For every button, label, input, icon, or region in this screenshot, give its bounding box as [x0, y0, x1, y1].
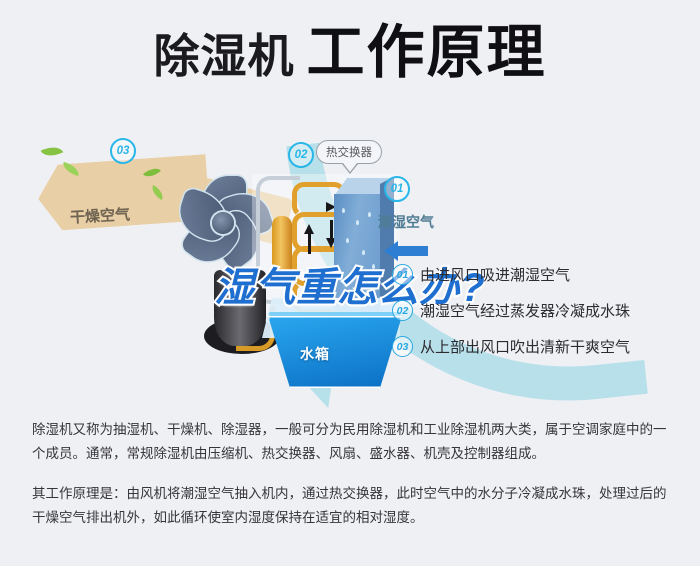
- infographic-page: 除湿机工作原理 干燥空气: [0, 0, 700, 566]
- step-number: 02: [392, 300, 413, 321]
- heat-exchanger-callout: 热交换器: [316, 140, 382, 164]
- body-paragraph-2: 其工作原理是：由风机将潮湿空气抽入机内，通过热交换器，此时空气中的水分子冷凝成水…: [32, 482, 672, 530]
- leaf-icon: [41, 142, 64, 160]
- diagram-badge-humid-air: 01: [384, 176, 410, 202]
- dry-air-label: 干燥空气: [69, 203, 130, 227]
- diagram-badge-heat-exchanger: 02: [288, 142, 314, 168]
- step-label: 由进风口吸进潮湿空气: [420, 264, 570, 285]
- body-copy: 除湿机又称为抽湿机、干燥机、除湿器，一般可分为民用除湿机和工业除湿机两大类，属于…: [32, 418, 672, 546]
- step-list: 01 由进风口吸进潮湿空气 02 潮湿空气经过蒸发器冷凝成水珠 03 从上部出风…: [392, 264, 692, 372]
- step-label: 从上部出风口吹出清新干爽空气: [420, 336, 630, 357]
- body-paragraph-1: 除湿机又称为抽湿机、干燥机、除湿器，一般可分为民用除湿机和工业除湿机两大类，属于…: [32, 418, 672, 466]
- air-inlet-arrow-icon: [398, 246, 428, 256]
- humid-air-label: 潮湿空气: [378, 212, 434, 232]
- list-item: 02 潮湿空气经过蒸发器冷凝成水珠: [392, 300, 692, 321]
- flow-arrow-icon: [304, 224, 314, 234]
- diagram-badge-dry-air: 03: [110, 138, 136, 164]
- flow-arrow-stem: [330, 220, 333, 240]
- step-label: 潮湿空气经过蒸发器冷凝成水珠: [420, 300, 630, 321]
- step-number: 01: [392, 264, 413, 285]
- water-tank-icon: [268, 316, 402, 388]
- page-title: 除湿机工作原理: [0, 24, 700, 82]
- flow-arrow-stem: [308, 232, 311, 254]
- water-tank-label: 水箱: [300, 344, 330, 364]
- page-title-part2: 工作原理: [306, 20, 546, 85]
- list-item: 03 从上部出风口吹出清新干爽空气: [392, 336, 692, 357]
- page-title-part1: 除湿机: [153, 30, 294, 82]
- step-number: 03: [392, 336, 413, 357]
- list-item: 01 由进风口吸进潮湿空气: [392, 264, 692, 285]
